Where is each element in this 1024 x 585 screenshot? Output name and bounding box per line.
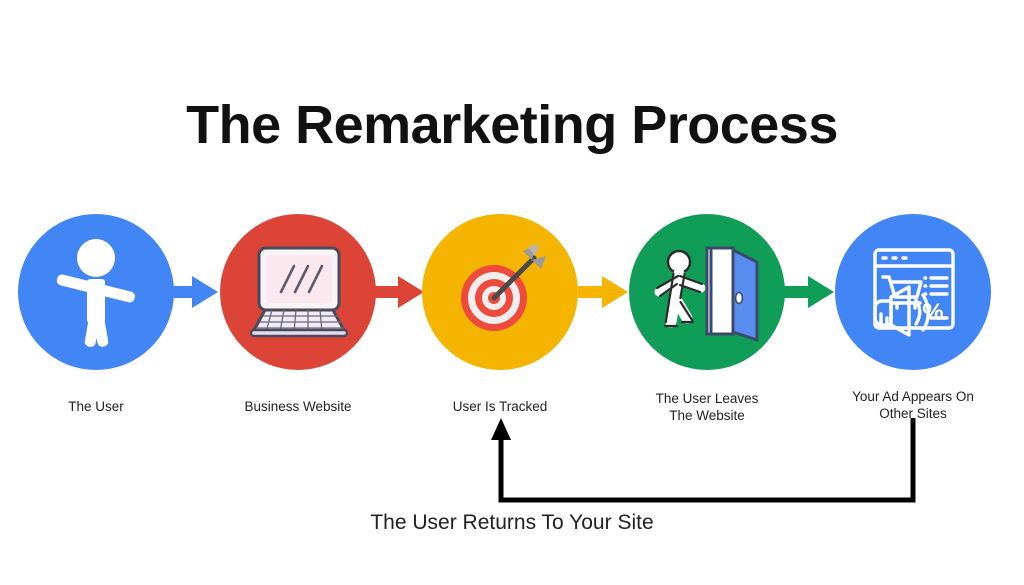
step-node-ad-appears-other-sites[interactable]: % [835,214,991,370]
step-node-business-website[interactable] [220,214,376,370]
step-label-the-user: The User [0,398,201,415]
diagram-canvas: The Remarketing Process The User [0,0,1024,585]
person-icon [18,214,174,370]
laptop-icon [220,214,376,370]
connector-arrow-3 [578,272,630,312]
step-node-the-user[interactable] [18,214,174,370]
step-label-business-website: Business Website [193,398,403,415]
step-node-user-is-tracked[interactable] [422,214,578,370]
page-title: The Remarketing Process [0,96,1024,155]
person-exiting-door-icon [629,214,785,370]
connector-arrow-4 [784,272,836,312]
feedback-loop-arrow [470,412,950,512]
target-arrow-icon [422,214,578,370]
step-label-line-1: Your Ad Appears On [808,388,1018,405]
feedback-loop-label: The User Returns To Your Site [0,511,1024,535]
step-label-line-1: The User Leaves [602,390,812,407]
step-node-user-leaves-website[interactable] [629,214,785,370]
svg-text:%: % [922,299,943,326]
ad-browser-megaphone-icon: % [835,214,991,370]
connector-arrow-1 [168,272,220,312]
connector-arrow-2 [374,272,426,312]
